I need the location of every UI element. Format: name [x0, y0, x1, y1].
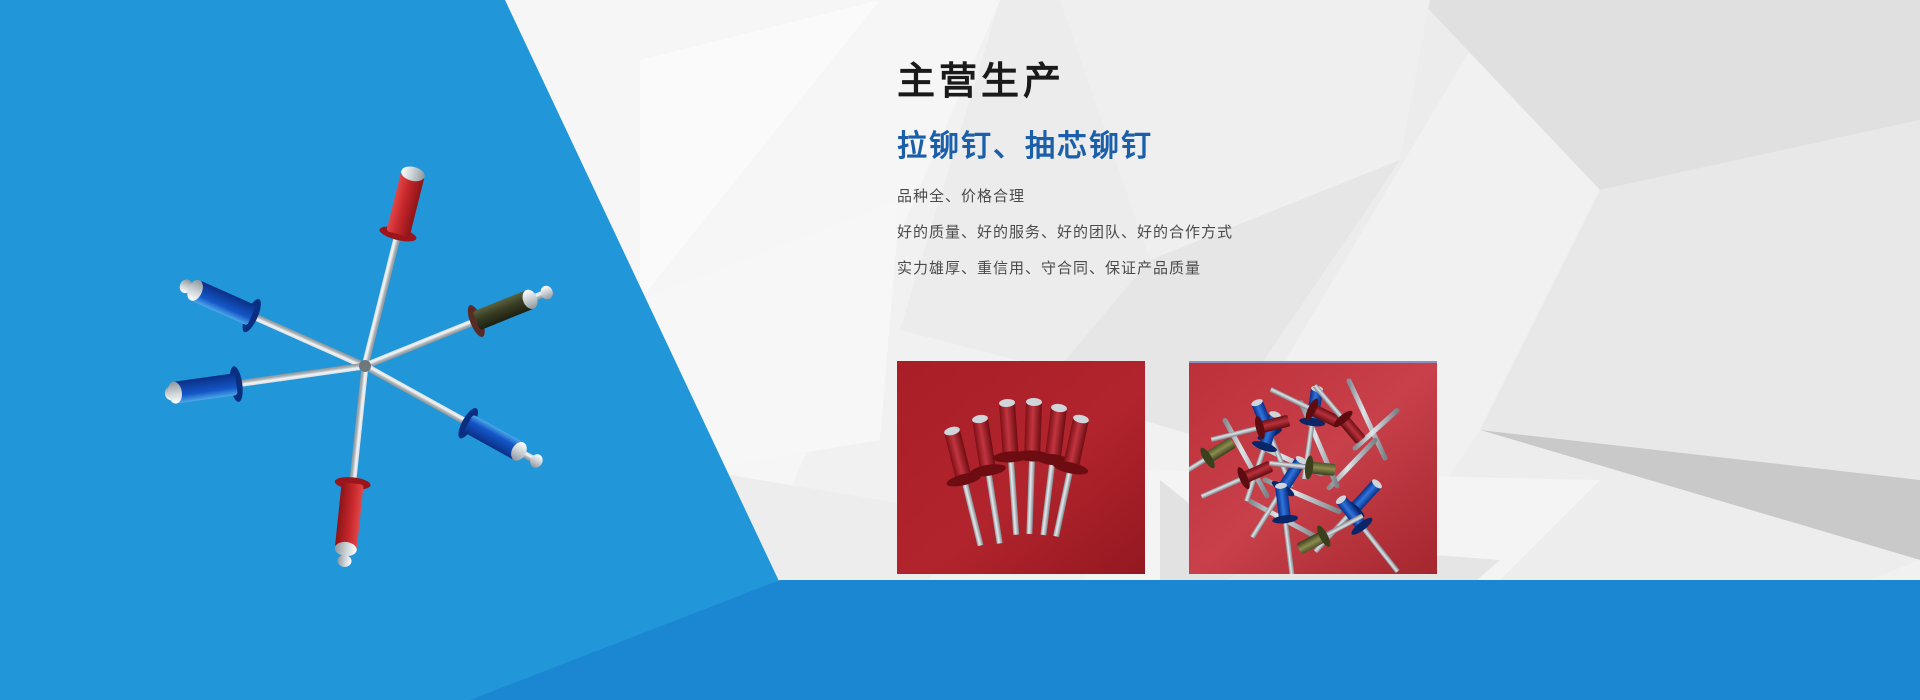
promo-banner: 主营生产 拉铆钉、抽芯铆钉 品种全、价格合理 好的质量、好的服务、好的团队、好的… [0, 0, 1920, 700]
red-rivets-fan-photo[interactable] [897, 361, 1145, 574]
blurb-line-2: 好的质量、好的服务、好的团队、好的合作方式 [897, 225, 1457, 240]
rivet-lowright-blue [357, 351, 550, 479]
rivet-down-red [326, 364, 383, 569]
bottom-blue-band [0, 580, 1920, 700]
rivet-up-red [347, 162, 433, 370]
rivet-right-olive [359, 275, 559, 382]
radiating-rivets-cluster [40, 60, 560, 580]
mixed-rivets-scatter-photo[interactable] [1189, 361, 1437, 574]
red-rivets-fan-image [897, 361, 1145, 574]
blurb-line-3: 实力雄厚、重信用、守合同、保证产品质量 [897, 261, 1457, 276]
blurb-line-1: 品种全、价格合理 [897, 189, 1457, 204]
rivet-left-blue [162, 348, 367, 412]
banner-text-column: 主营生产 拉铆钉、抽芯铆钉 品种全、价格合理 好的质量、好的服务、好的团队、好的… [897, 62, 1457, 276]
page-title: 主营生产 [897, 62, 1457, 104]
mixed-rivets-scatter-image [1189, 363, 1437, 574]
product-photo-row [897, 361, 1557, 574]
rivet-upleft-blue [173, 267, 372, 382]
page-subtitle: 拉铆钉、抽芯铆钉 [897, 130, 1457, 163]
